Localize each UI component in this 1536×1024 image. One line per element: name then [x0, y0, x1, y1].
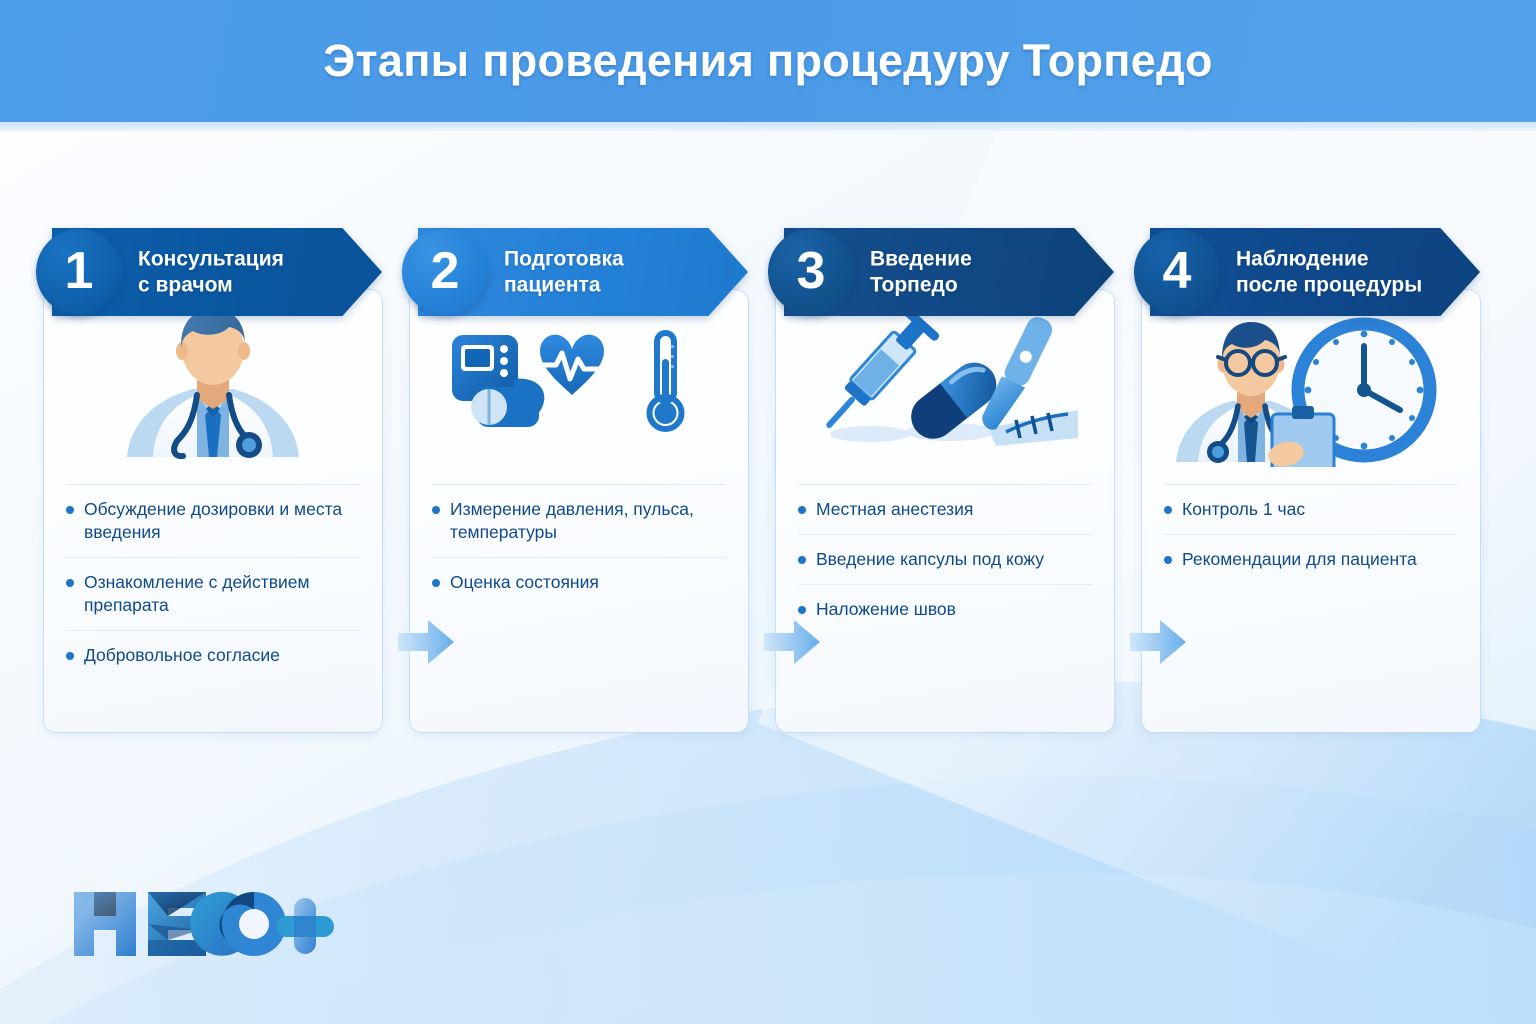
page-header: Этапы проведения процедуру Торпедо [0, 0, 1536, 122]
step-card-3[interactable]: Введение Торпедо 3 [776, 228, 1114, 732]
step-4-title: Наблюдение после процедуры [1236, 246, 1454, 297]
list-item: Рекомендации для пациента [1164, 534, 1458, 584]
list-item: Оценка состояния [432, 557, 726, 607]
step-2-number-badge: 2 [402, 229, 488, 315]
syringe-capsule-scalpel-sutures-icon [810, 310, 1080, 460]
step-4-title-line1: Наблюдение [1236, 246, 1454, 272]
list-item: Обсуждение дозировки и места введения [66, 484, 360, 557]
steps-container: Консультация с врачом 1 [44, 228, 1492, 748]
step-1-title-line1: Консультация [138, 246, 356, 272]
bullet-text: Добровольное согласие [84, 644, 280, 667]
bp-monitor-heart-thermometer-icon [444, 325, 714, 445]
list-item: Контроль 1 час [1164, 484, 1458, 534]
step-1-title-line2: с врачом [138, 272, 356, 298]
step-2-number: 2 [431, 245, 460, 297]
brand-logo [68, 884, 338, 969]
bullet-dot-icon [1164, 556, 1172, 564]
doctor-stethoscope-icon [93, 305, 333, 465]
bullet-text: Введение капсулы под кожу [816, 548, 1044, 571]
arrow-step2-to-step3 [762, 618, 822, 666]
step-3-illustration [776, 292, 1114, 477]
step-3-bullets: Местная анестезия Введение капсулы под к… [798, 484, 1092, 634]
bullet-dot-icon [66, 506, 74, 514]
step-4-illustration [1142, 292, 1480, 477]
list-item: Местная анестезия [798, 484, 1092, 534]
bullet-text: Местная анестезия [816, 498, 973, 521]
bullet-dot-icon [432, 579, 440, 587]
bullet-dot-icon [432, 506, 440, 514]
list-item: Введение капсулы под кожу [798, 534, 1092, 584]
arrow-step3-to-step4 [1128, 618, 1188, 666]
step-4-bullets: Контроль 1 час Рекомендации для пациента [1164, 484, 1458, 584]
step-3-number: 3 [797, 245, 826, 297]
step-2-title: Подготовка пациента [504, 246, 722, 297]
bullet-dot-icon [798, 556, 806, 564]
bullet-text: Контроль 1 час [1182, 498, 1305, 521]
bullet-dot-icon [798, 506, 806, 514]
bullet-text: Наложение швов [816, 598, 956, 621]
list-item: Наложение швов [798, 584, 1092, 634]
step-1-title: Консультация с врачом [138, 246, 356, 297]
step-3-title-line2: Торпедо [870, 272, 1088, 298]
bullet-text: Ознакомление с действием препарата [84, 571, 360, 617]
arrow-step1-to-step2 [396, 618, 456, 666]
step-2-title-line2: пациента [504, 272, 722, 298]
step-4-title-line2: после процедуры [1236, 272, 1454, 298]
list-item: Ознакомление с действием препарата [66, 557, 360, 630]
step-3-title: Введение Торпедо [870, 246, 1088, 297]
step-2-illustration [410, 292, 748, 477]
bullet-text: Измерение давления, пульса, температуры [450, 498, 726, 544]
header-divider [0, 122, 1536, 131]
step-4-number-badge: 4 [1134, 229, 1220, 315]
step-2-bullets: Измерение давления, пульса, температуры … [432, 484, 726, 607]
step-card-4[interactable]: Наблюдение после процедуры 4 [1142, 228, 1480, 732]
bullet-dot-icon [66, 579, 74, 587]
step-1-number-badge: 1 [36, 229, 122, 315]
step-card-2[interactable]: Подготовка пациента 2 [410, 228, 748, 732]
bullet-dot-icon [66, 652, 74, 660]
bullet-dot-icon [1164, 506, 1172, 514]
bullet-dot-icon [798, 606, 806, 614]
step-3-title-line1: Введение [870, 246, 1088, 272]
list-item: Измерение давления, пульса, температуры [432, 484, 726, 557]
step-card-1[interactable]: Консультация с врачом 1 [44, 228, 382, 732]
bullet-text: Обсуждение дозировки и места введения [84, 498, 360, 544]
step-3-number-badge: 3 [768, 229, 854, 315]
step-1-number: 1 [65, 245, 94, 297]
list-item: Добровольное согласие [66, 630, 360, 680]
neo-plus-logo-icon [68, 884, 338, 964]
infographic-canvas: Этапы проведения процедуру Торпедо Консу… [0, 0, 1536, 1024]
bullet-text: Рекомендации для пациента [1182, 548, 1417, 571]
page-title: Этапы проведения процедуру Торпедо [323, 35, 1213, 87]
step-2-title-line1: Подготовка [504, 246, 722, 272]
step-1-illustration [44, 292, 382, 477]
bullet-text: Оценка состояния [450, 571, 599, 594]
step-4-number: 4 [1163, 245, 1192, 297]
doctor-clipboard-clock-icon [1166, 302, 1456, 467]
step-1-bullets: Обсуждение дозировки и места введения Оз… [66, 484, 360, 680]
